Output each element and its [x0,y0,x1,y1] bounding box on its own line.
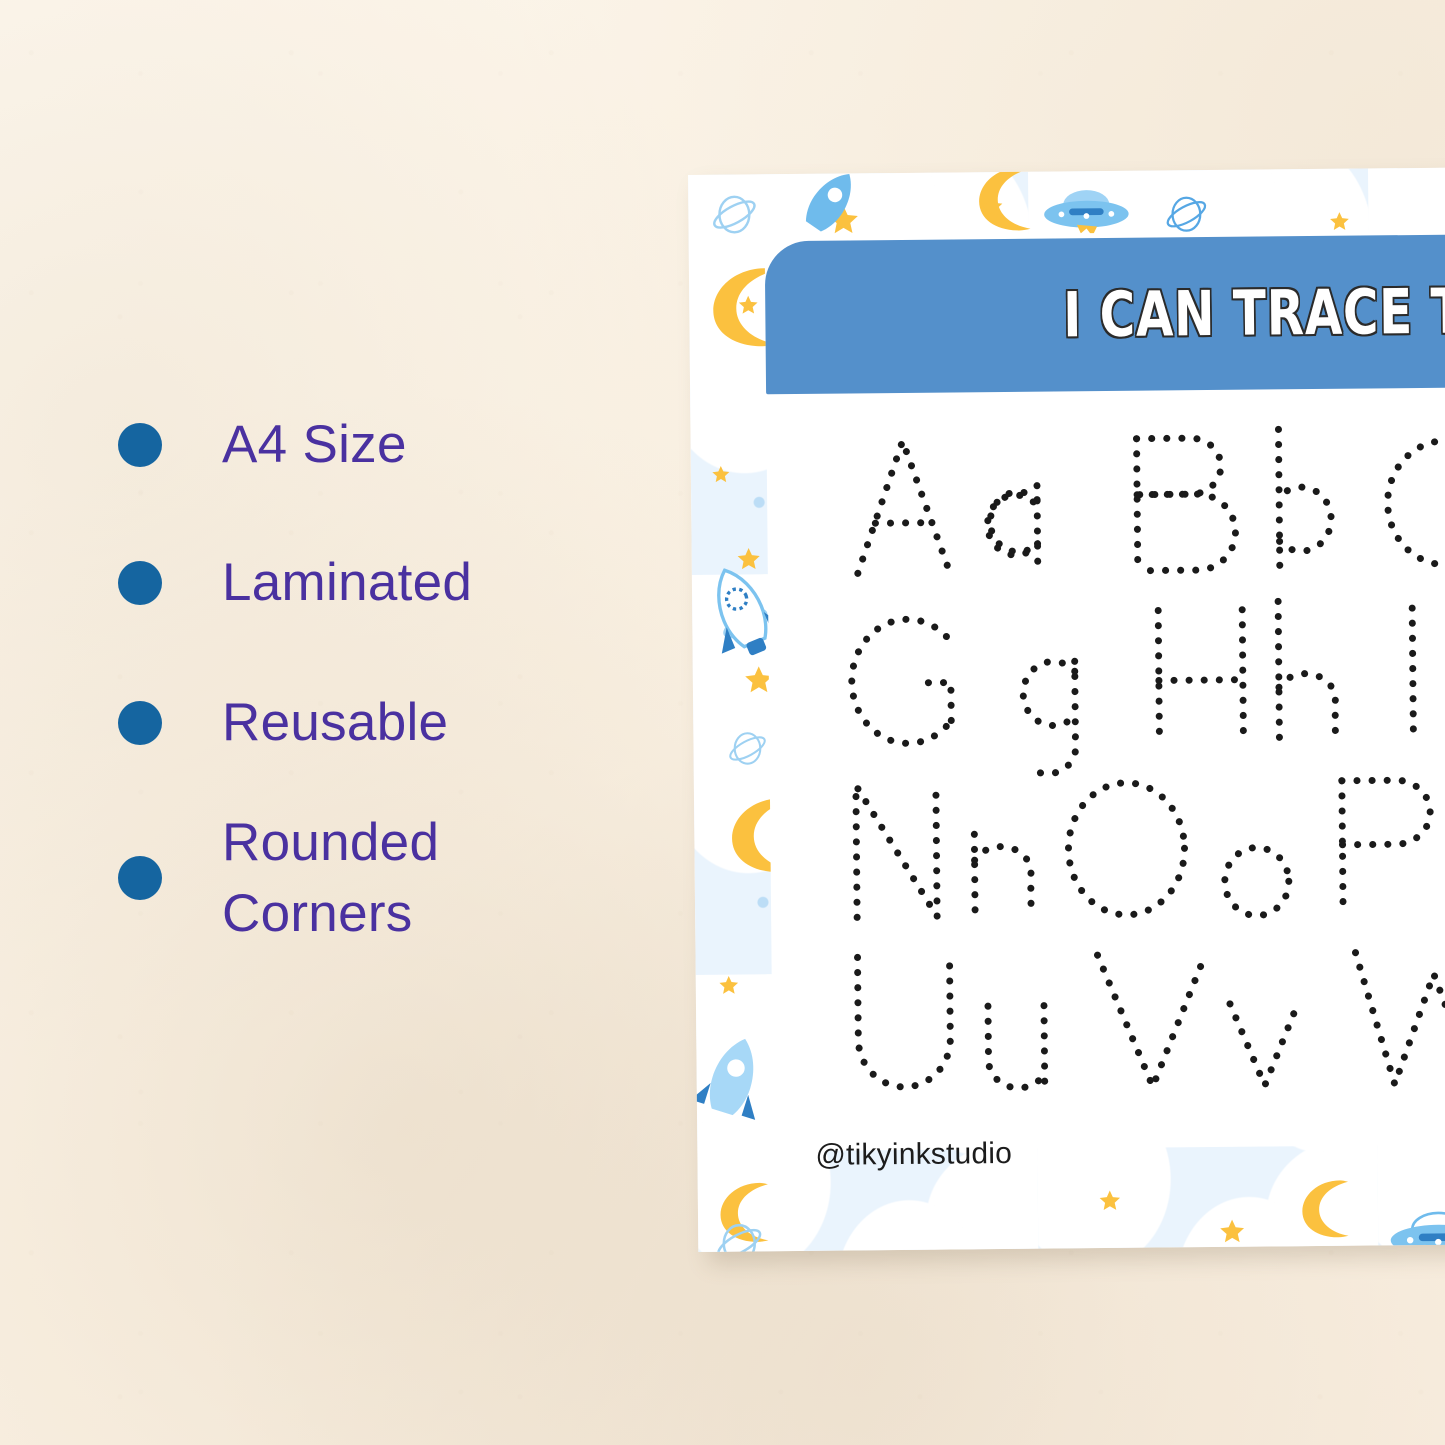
star-icon [711,465,731,485]
star-icon [826,203,860,237]
planet-icon [706,186,763,243]
trace-row [844,760,1445,939]
feature-item-rounded-corners: Rounded Corners [118,807,638,949]
feature-list: A4 Size Laminated Reusable Rounded Corne… [118,395,638,949]
trace-row [840,416,1445,595]
feature-label: Laminated [222,547,472,618]
feature-label: Rounded Corners [222,807,439,949]
trace-row [842,588,1445,767]
planet-icon [716,594,775,653]
trace-letters-area [840,416,1445,1111]
feature-item-reusable: Reusable [118,673,638,773]
worksheet-card: I CAN TRACE T [688,166,1445,1252]
rocket-icon [688,1025,783,1138]
bullet-dot-icon [118,423,162,467]
trace-row [845,932,1445,1111]
bullet-dot-icon [118,561,162,605]
feature-item-laminated: Laminated [118,533,638,633]
star-icon [1328,211,1350,233]
planet-icon [723,724,771,772]
star-icon [737,294,759,316]
worksheet-title-banner: I CAN TRACE T [765,233,1445,394]
feature-label: A4 Size [222,409,407,480]
worksheet-title: I CAN TRACE T [930,275,1445,353]
feature-item-a4-size: A4 Size [118,395,638,495]
bullet-dot-icon [118,856,162,900]
watermark-handle: @tikyinkstudio [815,1137,1012,1173]
star-icon [978,194,1004,220]
bullet-dot-icon [118,701,162,745]
star-icon [736,546,762,572]
bottom-pattern-band [697,1143,1445,1252]
poster-canvas: A4 Size Laminated Reusable Rounded Corne… [0,0,1445,1445]
star-icon [718,975,740,997]
feature-label: Reusable [222,687,448,758]
